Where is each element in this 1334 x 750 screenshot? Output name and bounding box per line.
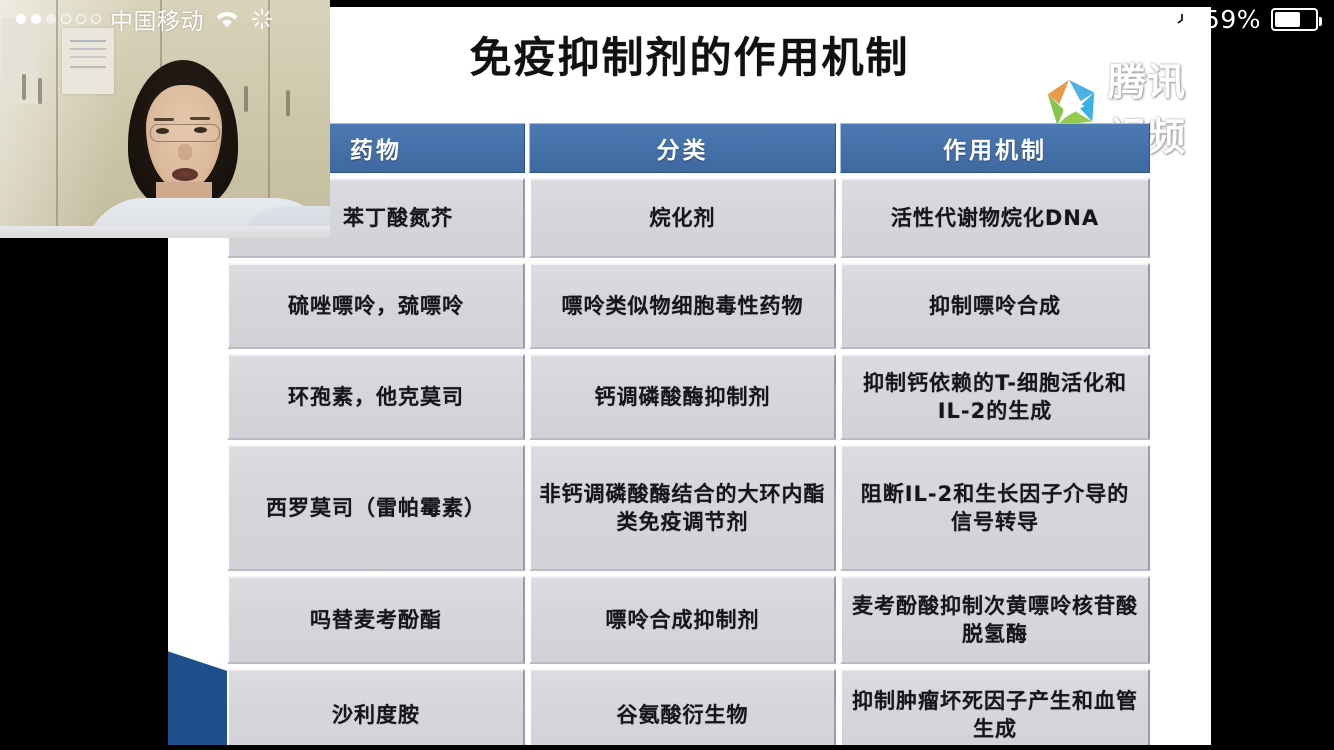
presenter-nose — [178, 144, 192, 160]
table-row: 硫唑嘌呤，巯嘌呤 嘌呤类似物细胞毒性药物 抑制嘌呤合成 — [227, 263, 1150, 349]
presenter-webcam-overlay[interactable] — [0, 0, 330, 238]
cell-mechanism: 抑制嘌呤合成 — [840, 263, 1150, 349]
cell-mechanism: 抑制钙依赖的T-细胞活化和IL-2的生成 — [840, 354, 1150, 440]
cell-mechanism: 麦考酚酸抑制次黄嘌呤核苷酸脱氢酶 — [840, 576, 1150, 664]
cell-drug: 吗替麦考酚酯 — [227, 576, 525, 664]
cell-category: 非钙调磷酸酶结合的大环内酯类免疫调节剂 — [529, 445, 836, 571]
cell-mechanism: 抑制肿瘤坏死因子产生和血管生成 — [840, 669, 1150, 745]
table-header-row: 药物 分类 作用机制 — [227, 123, 1150, 173]
table-row: 沙利度胺 谷氨酸衍生物 抑制肿瘤坏死因子产生和血管生成 — [227, 669, 1150, 745]
mechanism-table: 药物 分类 作用机制 胺，苯丁酸氮芥 烷化剂 活性代谢物烷化DNA 硫唑嘌呤，巯… — [223, 118, 1154, 745]
cell-mechanism: 活性代谢物烷化DNA — [840, 178, 1150, 258]
webcam-desk-edge — [0, 226, 330, 238]
battery-fill — [1275, 12, 1300, 27]
webcam-cabinet-handle — [286, 90, 290, 116]
cell-drug: 环孢素，他克莫司 — [227, 354, 525, 440]
webcam-wall-paper — [2, 18, 38, 104]
cell-category: 嘌呤合成抑制剂 — [529, 576, 836, 664]
webcam-cabinet-handle — [38, 78, 42, 104]
cell-category: 钙调磷酸酶抑制剂 — [529, 354, 836, 440]
cell-drug: 西罗莫司（雷帕霉素） — [227, 445, 525, 571]
presenter-eye — [156, 128, 169, 134]
webcam-wall-poster — [62, 28, 114, 94]
table-header-category: 分类 — [529, 123, 836, 173]
table-header-mechanism: 作用机制 — [840, 123, 1150, 173]
cell-mechanism: 阻断IL-2和生长因子介导的信号转导 — [840, 445, 1150, 571]
cell-category: 谷氨酸衍生物 — [529, 669, 836, 745]
video-player-screen: 免疫抑制剂的作用机制 腾讯视频 药物 — [0, 0, 1334, 750]
presenter-eyebrow — [154, 118, 174, 121]
table-row: 胺，苯丁酸氮芥 烷化剂 活性代谢物烷化DNA — [227, 178, 1150, 258]
webcam-cabinet-seam — [56, 0, 58, 238]
cell-category: 烷化剂 — [529, 178, 836, 258]
presenter-eyebrow — [190, 117, 210, 120]
webcam-cabinet-handle — [244, 86, 248, 112]
cell-category: 嘌呤类似物细胞毒性药物 — [529, 263, 836, 349]
cell-drug: 沙利度胺 — [227, 669, 525, 745]
presenter-eye — [194, 127, 207, 133]
cell-drug: 硫唑嘌呤，巯嘌呤 — [227, 263, 525, 349]
webcam-cabinet-handle — [22, 74, 26, 100]
battery-percent-label: 59% — [1204, 5, 1261, 34]
table-row: 西罗莫司（雷帕霉素） 非钙调磷酸酶结合的大环内酯类免疫调节剂 阻断IL-2和生长… — [227, 445, 1150, 571]
battery-icon — [1271, 8, 1318, 31]
table-row: 吗替麦考酚酯 嘌呤合成抑制剂 麦考酚酸抑制次黄嘌呤核苷酸脱氢酶 — [227, 576, 1150, 664]
presenter-mouth — [172, 168, 198, 181]
table-row: 环孢素，他克莫司 钙调磷酸酶抑制剂 抑制钙依赖的T-细胞活化和IL-2的生成 — [227, 354, 1150, 440]
